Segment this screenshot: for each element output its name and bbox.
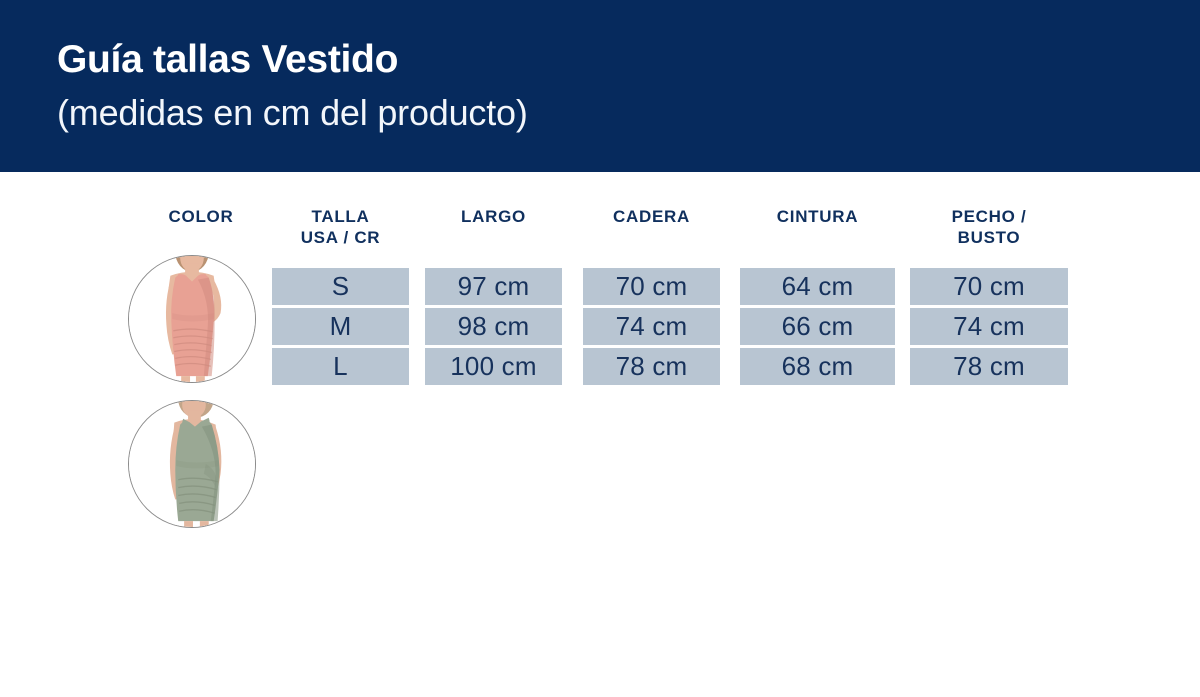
dress-photo-sage-icon [129,401,255,527]
table-row: 100 cm [425,348,562,385]
column-header-talla: TALLA USA / CR [272,206,409,249]
page-subtitle: (medidas en cm del producto) [57,95,528,131]
table-row: 74 cm [583,308,720,345]
table-row: 70 cm [910,268,1068,305]
table-row: 74 cm [910,308,1068,345]
table-row: 70 cm [583,268,720,305]
table-row: 64 cm [740,268,895,305]
column-header-talla-line2: USA / CR [272,227,409,248]
column-header-largo: LARGO [425,206,562,227]
table-column-headers: COLOR TALLA USA / CR LARGO CADERA CINTUR… [0,206,1200,262]
color-swatch-pink[interactable] [128,255,256,383]
header-banner: Guía tallas Vestido (medidas en cm del p… [0,0,1200,172]
column-header-color: COLOR [128,206,274,227]
table-row: 97 cm [425,268,562,305]
table-row: 78 cm [583,348,720,385]
table-row: 68 cm [740,348,895,385]
column-header-cadera: CADERA [583,206,720,227]
table-row: 98 cm [425,308,562,345]
column-header-pecho-line1: PECHO / [910,206,1068,227]
page-title: Guía tallas Vestido [57,40,528,79]
table-row: M [272,308,409,345]
column-header-pecho-busto: PECHO / BUSTO [910,206,1068,249]
column-header-color-line1: COLOR [128,206,274,227]
table-row: 78 cm [910,348,1068,385]
table-row: L [272,348,409,385]
size-guide-table: COLOR TALLA USA / CR LARGO CADERA CINTUR… [0,172,1200,697]
column-header-cadera-line1: CADERA [583,206,720,227]
column-header-pecho-line2: BUSTO [910,227,1068,248]
dress-photo-pink-icon [129,256,255,382]
column-header-cintura: CINTURA [740,206,895,227]
table-row: S [272,268,409,305]
header-text-block: Guía tallas Vestido (medidas en cm del p… [57,40,528,131]
column-header-largo-line1: LARGO [425,206,562,227]
column-header-cintura-line1: CINTURA [740,206,895,227]
table-row: 66 cm [740,308,895,345]
color-swatch-sage[interactable] [128,400,256,528]
column-header-talla-line1: TALLA [272,206,409,227]
